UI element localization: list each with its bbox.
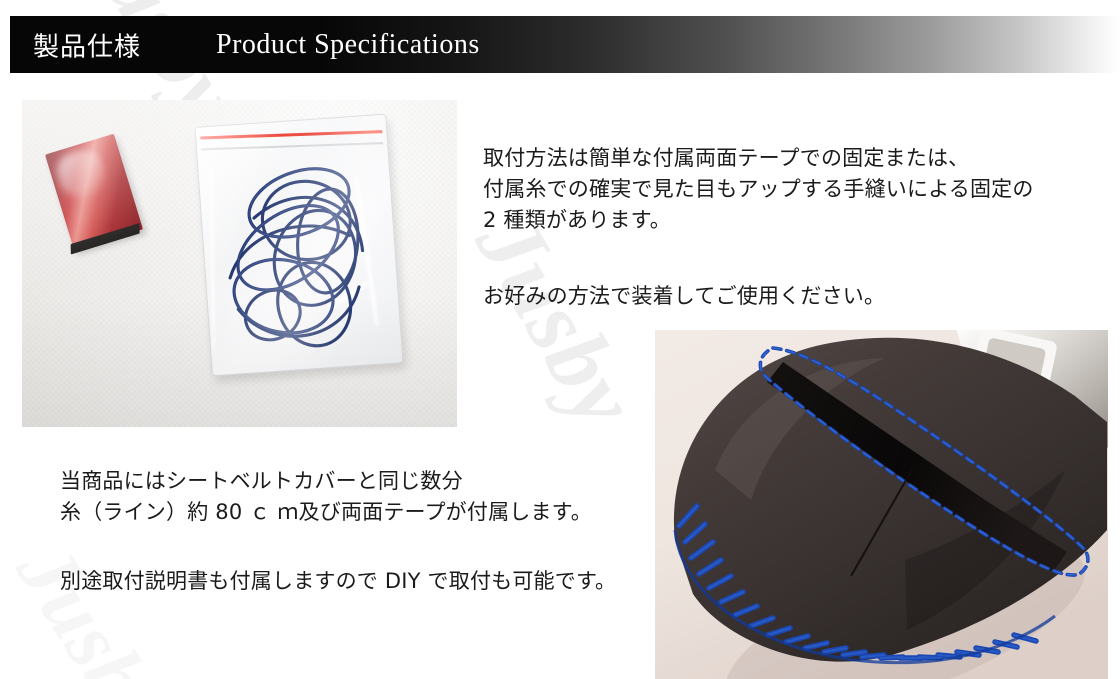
header-band: 製品仕様 Product Specifications xyxy=(10,16,1120,73)
buckle-illustration: Jusby xyxy=(655,330,1108,679)
desk-lighting xyxy=(22,100,457,427)
package-contents-text: 当商品にはシートベルトカバーと同じ数分 糸（ライン）約 80 ｃ ｍ及び両面テー… xyxy=(60,466,660,528)
preference-note-text: お好みの方法で装着してご使用ください。 xyxy=(483,281,1113,312)
diy-note-text: 別途取付説明書も付属しますので DIY で取付も可能です。 xyxy=(60,566,680,597)
page-title-en: Product Specifications xyxy=(216,29,480,61)
product-specifications-page: Jusby Jusby Jusby 製品仕様 Product Specifica… xyxy=(0,0,1120,679)
header-inner: 製品仕様 Product Specifications xyxy=(10,16,1120,73)
photo-accessory-parts xyxy=(22,100,457,427)
install-method-text: 取付方法は簡単な付属両面テープでの固定または、 付属糸での確実で見た目もアップす… xyxy=(483,143,1113,236)
page-title-ja: 製品仕様 xyxy=(33,26,141,63)
photo-buckle-cover: Jusby xyxy=(655,330,1108,679)
watermark-bottom-left: Jusby xyxy=(0,528,188,679)
